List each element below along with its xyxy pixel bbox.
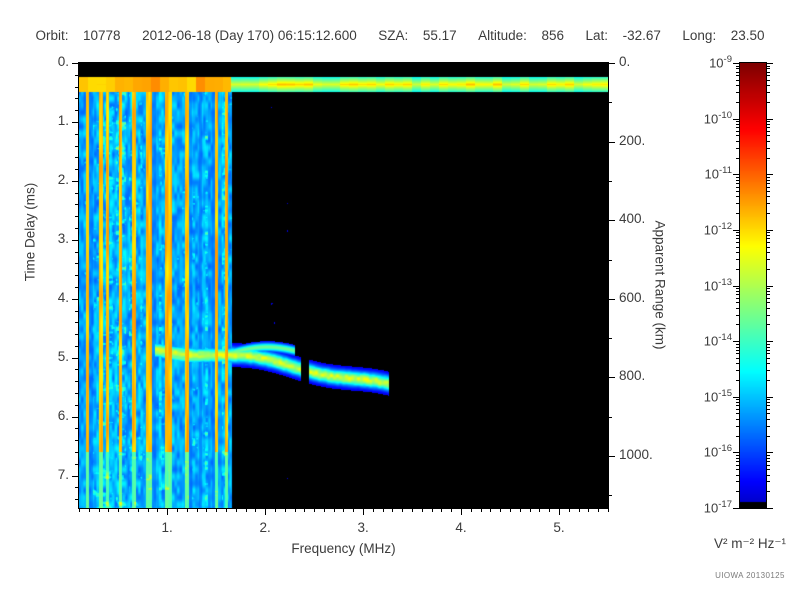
colorbar-minor-tick	[766, 85, 770, 86]
x-tick	[539, 508, 540, 512]
colorbar-tick	[766, 286, 773, 287]
x-tick	[236, 508, 237, 512]
y-tick	[75, 393, 79, 394]
x-tick	[490, 508, 491, 512]
colorbar-tick	[766, 452, 773, 453]
colorbar-tick-label: 10-15	[662, 388, 732, 404]
colorbar-minor-tick	[736, 213, 740, 214]
colorbar-tick	[766, 174, 773, 175]
y2-tick	[608, 220, 615, 221]
y-tick-label: 3.	[37, 231, 69, 246]
y-tick	[75, 169, 79, 170]
y2-tick-label: 0.	[619, 54, 630, 69]
x-tick	[608, 508, 609, 512]
x-tick	[373, 508, 374, 512]
colorbar-minor-tick	[766, 187, 770, 188]
x-tick	[461, 508, 462, 515]
x-tick	[520, 508, 521, 512]
x-tick	[530, 508, 531, 512]
y-tick	[75, 204, 79, 205]
y-tick	[75, 452, 79, 453]
colorbar-frame	[739, 62, 767, 509]
colorbar-minor-tick	[766, 405, 770, 406]
x-tick	[157, 508, 158, 512]
colorbar-minor-tick	[736, 187, 740, 188]
y2-tick-label: 800.	[619, 368, 645, 383]
x-tick	[314, 508, 315, 512]
colorbar-minor-tick	[736, 405, 740, 406]
y2-tick	[608, 456, 615, 457]
colorbar-minor-tick	[766, 426, 770, 427]
colorbar-minor-tick	[736, 242, 740, 243]
y2-tick	[608, 102, 612, 103]
x-tick	[206, 508, 207, 512]
x-tick	[275, 508, 276, 512]
colorbar-minor-tick	[736, 80, 740, 81]
colorbar-minor-tick	[736, 238, 740, 239]
y-tick-label: 0.	[37, 54, 69, 69]
x-tick	[363, 508, 364, 515]
y-tick-label: 6.	[37, 408, 69, 423]
colorbar-minor-tick	[766, 75, 770, 76]
x-tick	[216, 508, 217, 512]
altitude-label: Altitude:	[478, 28, 527, 43]
x-tick	[353, 508, 354, 512]
colorbar-tick	[766, 230, 773, 231]
datetime-value: 2012-06-18 (Day 170) 06:15:12.600	[142, 28, 357, 43]
y-tick	[75, 87, 79, 88]
colorbar-tick-label: 10-12	[662, 221, 732, 237]
colorbar-minor-tick	[766, 141, 770, 142]
colorbar-minor-tick	[766, 183, 770, 184]
colorbar-minor-tick	[736, 203, 740, 204]
colorbar-minor-tick	[766, 269, 770, 270]
x-tick-label: 4.	[447, 520, 475, 535]
colorbar-tick	[733, 341, 740, 342]
colorbar-tick-label: 10-17	[662, 499, 732, 515]
colorbar-minor-tick	[736, 469, 740, 470]
x-tick	[138, 508, 139, 512]
colorbar-minor-tick	[766, 344, 770, 345]
orbit-value: 10778	[83, 28, 121, 43]
x-tick-label: 2.	[251, 520, 279, 535]
y2-tick	[608, 417, 612, 418]
colorbar-minor-tick	[736, 288, 740, 289]
colorbar-minor-tick	[736, 350, 740, 351]
colorbar-minor-tick	[736, 399, 740, 400]
colorbar-minor-tick	[766, 158, 770, 159]
x-tick	[79, 508, 80, 512]
colorbar-minor-tick	[736, 259, 740, 260]
colorbar-minor-tick	[766, 308, 770, 309]
colorbar-minor-tick	[736, 347, 740, 348]
x-tick-label: 3.	[349, 520, 377, 535]
y2-tick	[608, 63, 615, 64]
colorbar-tick	[766, 341, 773, 342]
colorbar-minor-tick	[736, 426, 740, 427]
x-tick	[167, 508, 168, 515]
colorbar-minor-tick	[736, 491, 740, 492]
colorbar-minor-tick	[766, 131, 770, 132]
x-tick	[383, 508, 384, 512]
colorbar-minor-tick	[766, 72, 770, 73]
colorbar-minor-tick	[736, 465, 740, 466]
y-tick	[75, 287, 79, 288]
y2-tick-label: 400.	[619, 211, 645, 226]
colorbar-minor-tick	[736, 419, 740, 420]
colorbar-minor-tick	[736, 232, 740, 233]
colorbar-minor-tick	[766, 288, 770, 289]
x-tick	[559, 508, 560, 515]
colorbar-minor-tick	[766, 436, 770, 437]
y-tick	[72, 63, 79, 64]
colorbar-minor-tick	[736, 75, 740, 76]
colorbar-minor-tick	[766, 461, 770, 462]
x-tick	[343, 508, 344, 512]
colorbar-minor-tick	[766, 465, 770, 466]
colorbar-minor-tick	[766, 469, 770, 470]
colorbar-minor-tick	[736, 436, 740, 437]
x-axis-title: Frequency (MHz)	[79, 541, 608, 556]
y-tick	[75, 369, 79, 370]
y-tick	[72, 181, 79, 182]
colorbar-minor-tick	[736, 85, 740, 86]
colorbar-tick	[733, 452, 740, 453]
x-tick	[402, 508, 403, 512]
colorbar-minor-tick	[736, 308, 740, 309]
colorbar-minor-tick	[766, 238, 770, 239]
colorbar-minor-tick	[766, 353, 770, 354]
x-tick	[549, 508, 550, 512]
colorbar-minor-tick	[766, 180, 770, 181]
colorbar-minor-tick	[766, 363, 770, 364]
colorbar-minor-tick	[736, 121, 740, 122]
colorbar-minor-tick	[736, 291, 740, 292]
lat-label: Lat:	[586, 28, 609, 43]
y2-tick	[608, 338, 612, 339]
colorbar-minor-tick	[766, 491, 770, 492]
colorbar-tick-label: 10-9	[662, 54, 732, 70]
colorbar-minor-tick	[736, 413, 740, 414]
sza-value: 55.17	[423, 28, 457, 43]
y-tick	[75, 98, 79, 99]
colorbar-minor-tick	[736, 402, 740, 403]
colorbar-minor-tick	[736, 102, 740, 103]
y-tick	[72, 358, 79, 359]
colorbar-minor-tick	[766, 380, 770, 381]
colorbar-minor-tick	[766, 358, 770, 359]
x-tick	[148, 508, 149, 512]
colorbar-minor-tick	[766, 80, 770, 81]
long-label: Long:	[682, 28, 716, 43]
colorbar-minor-tick	[736, 127, 740, 128]
colorbar-minor-tick	[766, 458, 770, 459]
colorbar-minor-tick	[766, 121, 770, 122]
y-tick	[75, 499, 79, 500]
y-tick	[72, 240, 79, 241]
colorbar-tick	[733, 286, 740, 287]
y-tick	[72, 299, 79, 300]
y-tick	[75, 134, 79, 135]
y2-tick	[608, 299, 615, 300]
colorbar-minor-tick	[736, 269, 740, 270]
x-tick	[118, 508, 119, 512]
y-tick	[72, 476, 79, 477]
y-tick	[75, 157, 79, 158]
y-tick	[72, 122, 79, 123]
colorbar-minor-tick	[766, 102, 770, 103]
colorbar-minor-tick	[766, 127, 770, 128]
x-tick	[451, 508, 452, 512]
colorbar-minor-tick	[736, 324, 740, 325]
colorbar-minor-tick	[736, 158, 740, 159]
x-tick	[197, 508, 198, 512]
y2-tick-label: 1000.	[619, 447, 653, 462]
y-tick	[75, 311, 79, 312]
colorbar-minor-tick	[736, 66, 740, 67]
y-tick-label: 5.	[37, 349, 69, 364]
colorbar-minor-tick	[766, 399, 770, 400]
y-tick-label: 1.	[37, 113, 69, 128]
colorbar-minor-tick	[766, 124, 770, 125]
x-tick	[432, 508, 433, 512]
y2-tick	[608, 377, 615, 378]
long-value: 23.50	[731, 28, 765, 43]
y-tick	[75, 275, 79, 276]
colorbar-minor-tick	[766, 298, 770, 299]
altitude-value: 856	[541, 28, 564, 43]
y-tick	[75, 487, 79, 488]
colorbar-minor-tick	[766, 402, 770, 403]
colorbar-minor-tick	[766, 324, 770, 325]
y2-tick	[608, 181, 612, 182]
y-tick	[75, 228, 79, 229]
x-tick	[265, 508, 266, 515]
x-tick	[334, 508, 335, 512]
x-tick	[246, 508, 247, 512]
colorbar-minor-tick	[766, 252, 770, 253]
x-tick	[471, 508, 472, 512]
colorbar-minor-tick	[766, 475, 770, 476]
x-tick	[441, 508, 442, 512]
x-tick	[481, 508, 482, 512]
x-tick	[108, 508, 109, 512]
colorbar-minor-tick	[736, 298, 740, 299]
colorbar-minor-tick	[736, 458, 740, 459]
ionogram-plot-area	[79, 63, 608, 508]
colorbar-minor-tick	[766, 92, 770, 93]
y-tick	[75, 322, 79, 323]
colorbar-minor-tick	[766, 259, 770, 260]
colorbar-minor-tick	[736, 141, 740, 142]
y-tick	[75, 464, 79, 465]
colorbar-minor-tick	[766, 196, 770, 197]
colorbar-tick-label: 10-16	[662, 443, 732, 459]
colorbar-minor-tick	[736, 252, 740, 253]
colorbar-minor-tick	[736, 177, 740, 178]
colorbar-minor-tick	[736, 68, 740, 69]
colorbar-minor-tick	[766, 481, 770, 482]
x-tick	[412, 508, 413, 512]
colorbar-minor-tick	[736, 183, 740, 184]
x-tick	[510, 508, 511, 512]
y-tick	[75, 405, 79, 406]
colorbar-tick	[733, 119, 740, 120]
sza-label: SZA:	[378, 28, 408, 43]
y-tick	[75, 428, 79, 429]
colorbar-minor-tick	[766, 294, 770, 295]
colorbar-minor-tick	[736, 315, 740, 316]
x-tick	[89, 508, 90, 512]
colorbar-minor-tick	[766, 413, 770, 414]
x-tick	[285, 508, 286, 512]
colorbar-minor-tick	[766, 302, 770, 303]
y-tick	[72, 417, 79, 418]
colorbar-minor-tick	[766, 66, 770, 67]
y2-tick-label: 600.	[619, 290, 645, 305]
colorbar-minor-tick	[736, 353, 740, 354]
y-tick	[75, 110, 79, 111]
colorbar-tick	[766, 119, 773, 120]
colorbar-minor-tick	[736, 180, 740, 181]
y2-tick-label: 200.	[619, 133, 645, 148]
colorbar-minor-tick	[736, 131, 740, 132]
colorbar-minor-tick	[736, 481, 740, 482]
x-tick	[422, 508, 423, 512]
x-tick	[255, 508, 256, 512]
colorbar-minor-tick	[766, 455, 770, 456]
colorbar-minor-tick	[766, 213, 770, 214]
colorbar-minor-tick	[736, 235, 740, 236]
colorbar-minor-tick	[766, 148, 770, 149]
colorbar-minor-tick	[736, 344, 740, 345]
colorbar-units-label: V² m⁻² Hz⁻¹	[700, 536, 800, 552]
y-axis-title: Time Delay (ms)	[23, 152, 38, 312]
y2-tick	[608, 495, 612, 496]
x-tick	[588, 508, 589, 512]
colorbar-minor-tick	[766, 135, 770, 136]
colorbar-tick	[733, 397, 740, 398]
y-tick	[75, 440, 79, 441]
colorbar-tick	[733, 174, 740, 175]
colorbar-minor-tick	[736, 124, 740, 125]
x-tick	[569, 508, 570, 512]
x-tick	[226, 508, 227, 512]
colorbar-minor-tick	[766, 247, 770, 248]
credit-watermark: UIOWA 20130125	[700, 571, 800, 580]
x-tick	[500, 508, 501, 512]
y-tick	[75, 216, 79, 217]
colorbar-minor-tick	[736, 294, 740, 295]
y-tick	[75, 252, 79, 253]
colorbar-tick	[766, 63, 773, 64]
x-tick	[99, 508, 100, 512]
y-tick-label: 2.	[37, 172, 69, 187]
colorbar-minor-tick	[736, 72, 740, 73]
colorbar-tick-label: 10-10	[662, 110, 732, 126]
y-tick	[75, 263, 79, 264]
colorbar-minor-tick	[736, 380, 740, 381]
x-tick	[598, 508, 599, 512]
x-tick	[177, 508, 178, 512]
colorbar-tick-label: 10-11	[662, 165, 732, 181]
y-tick-label: 4.	[37, 290, 69, 305]
colorbar-minor-tick	[766, 232, 770, 233]
y-tick	[75, 146, 79, 147]
y-tick	[75, 193, 79, 194]
colorbar-minor-tick	[736, 191, 740, 192]
header-metadata: Orbit: 10778 2012-06-18 (Day 170) 06:15:…	[0, 28, 800, 48]
x-tick	[324, 508, 325, 512]
colorbar-minor-tick	[736, 135, 740, 136]
colorbar-minor-tick	[766, 409, 770, 410]
colorbar-minor-tick	[766, 370, 770, 371]
colorbar-minor-tick	[766, 350, 770, 351]
colorbar-minor-tick	[766, 68, 770, 69]
x-tick	[128, 508, 129, 512]
y-tick	[75, 75, 79, 76]
colorbar-tick	[766, 508, 773, 509]
colorbar-minor-tick	[766, 177, 770, 178]
orbit-label: Orbit:	[35, 28, 68, 43]
colorbar-minor-tick	[736, 92, 740, 93]
colorbar-minor-tick	[736, 148, 740, 149]
y2-tick	[608, 260, 612, 261]
colorbar-tick	[733, 230, 740, 231]
x-tick	[304, 508, 305, 512]
x-tick	[295, 508, 296, 512]
y-tick-label: 7.	[37, 467, 69, 482]
colorbar-tick	[733, 508, 740, 509]
y-tick	[75, 381, 79, 382]
colorbar-minor-tick	[736, 302, 740, 303]
y-tick	[75, 334, 79, 335]
ionogram-heatmap	[79, 63, 608, 508]
colorbar-minor-tick	[766, 291, 770, 292]
colorbar-minor-tick	[736, 247, 740, 248]
colorbar-minor-tick	[766, 242, 770, 243]
x-tick	[392, 508, 393, 512]
colorbar-tick-label: 10-13	[662, 277, 732, 293]
y2-tick	[608, 142, 615, 143]
y-tick	[75, 346, 79, 347]
colorbar-tick	[766, 397, 773, 398]
colorbar-minor-tick	[766, 203, 770, 204]
x-tick	[579, 508, 580, 512]
colorbar-minor-tick	[766, 419, 770, 420]
colorbar-minor-tick	[736, 196, 740, 197]
colorbar-minor-tick	[736, 370, 740, 371]
colorbar-minor-tick	[736, 455, 740, 456]
colorbar-minor-tick	[766, 347, 770, 348]
colorbar-tick-label: 10-14	[662, 332, 732, 348]
x-tick	[187, 508, 188, 512]
x-tick-label: 5.	[545, 520, 573, 535]
colorbar-minor-tick	[766, 315, 770, 316]
colorbar-minor-tick	[736, 461, 740, 462]
lat-value: -32.67	[623, 28, 661, 43]
colorbar-tick	[733, 63, 740, 64]
colorbar-minor-tick	[766, 191, 770, 192]
x-tick-label: 1.	[153, 520, 181, 535]
colorbar-minor-tick	[736, 409, 740, 410]
colorbar-minor-tick	[736, 358, 740, 359]
colorbar-minor-tick	[766, 235, 770, 236]
colorbar-minor-tick	[736, 475, 740, 476]
colorbar-minor-tick	[736, 363, 740, 364]
